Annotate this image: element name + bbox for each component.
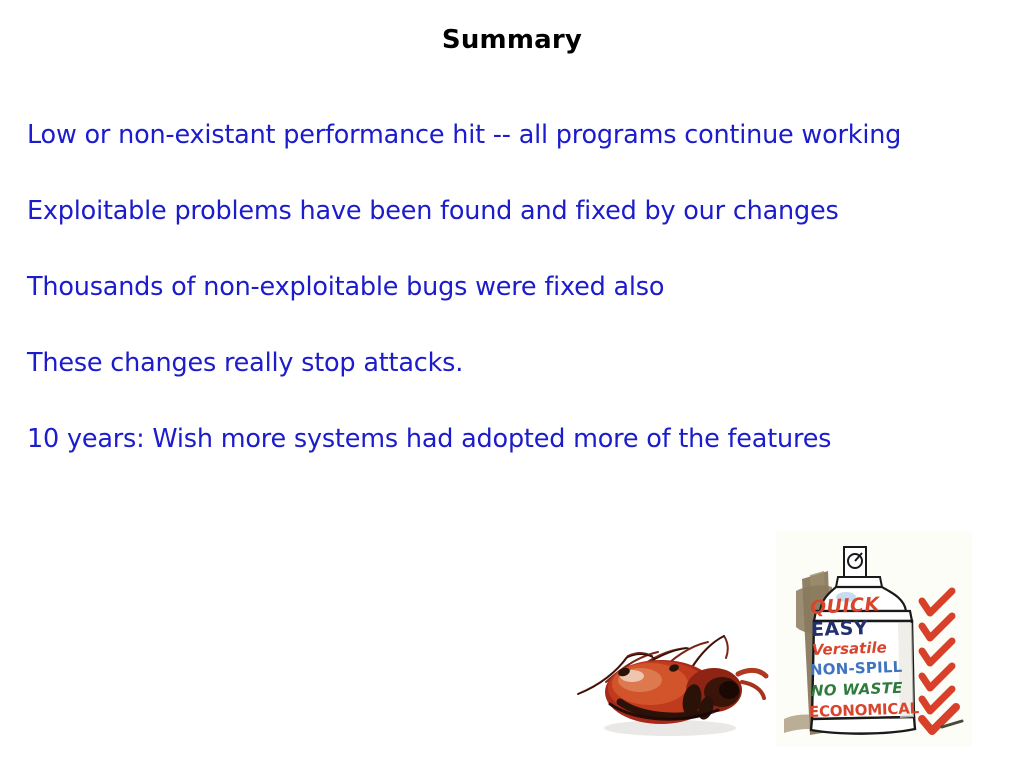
bullet-line-1: Low or non-existant performance hit -- a…: [27, 120, 987, 196]
presentation-slide: Summary Low or non-existant performance …: [0, 0, 1024, 768]
bullet-line-2: Exploitable problems have been found and…: [27, 196, 987, 272]
page-title: Summary: [0, 24, 1024, 56]
bullet-line-5: 10 years: Wish more systems had adopted …: [27, 424, 987, 500]
dead-beetle-photo: [566, 612, 778, 748]
spray-can-clipart: QUICK EASY Versatile NON-SPILL NO WASTE …: [776, 531, 972, 746]
bullet-line-3: Thousands of non-exploitable bugs were f…: [27, 272, 987, 348]
bullet-list: Low or non-existant performance hit -- a…: [27, 120, 987, 500]
bullet-line-4: These changes really stop attacks.: [27, 348, 987, 424]
